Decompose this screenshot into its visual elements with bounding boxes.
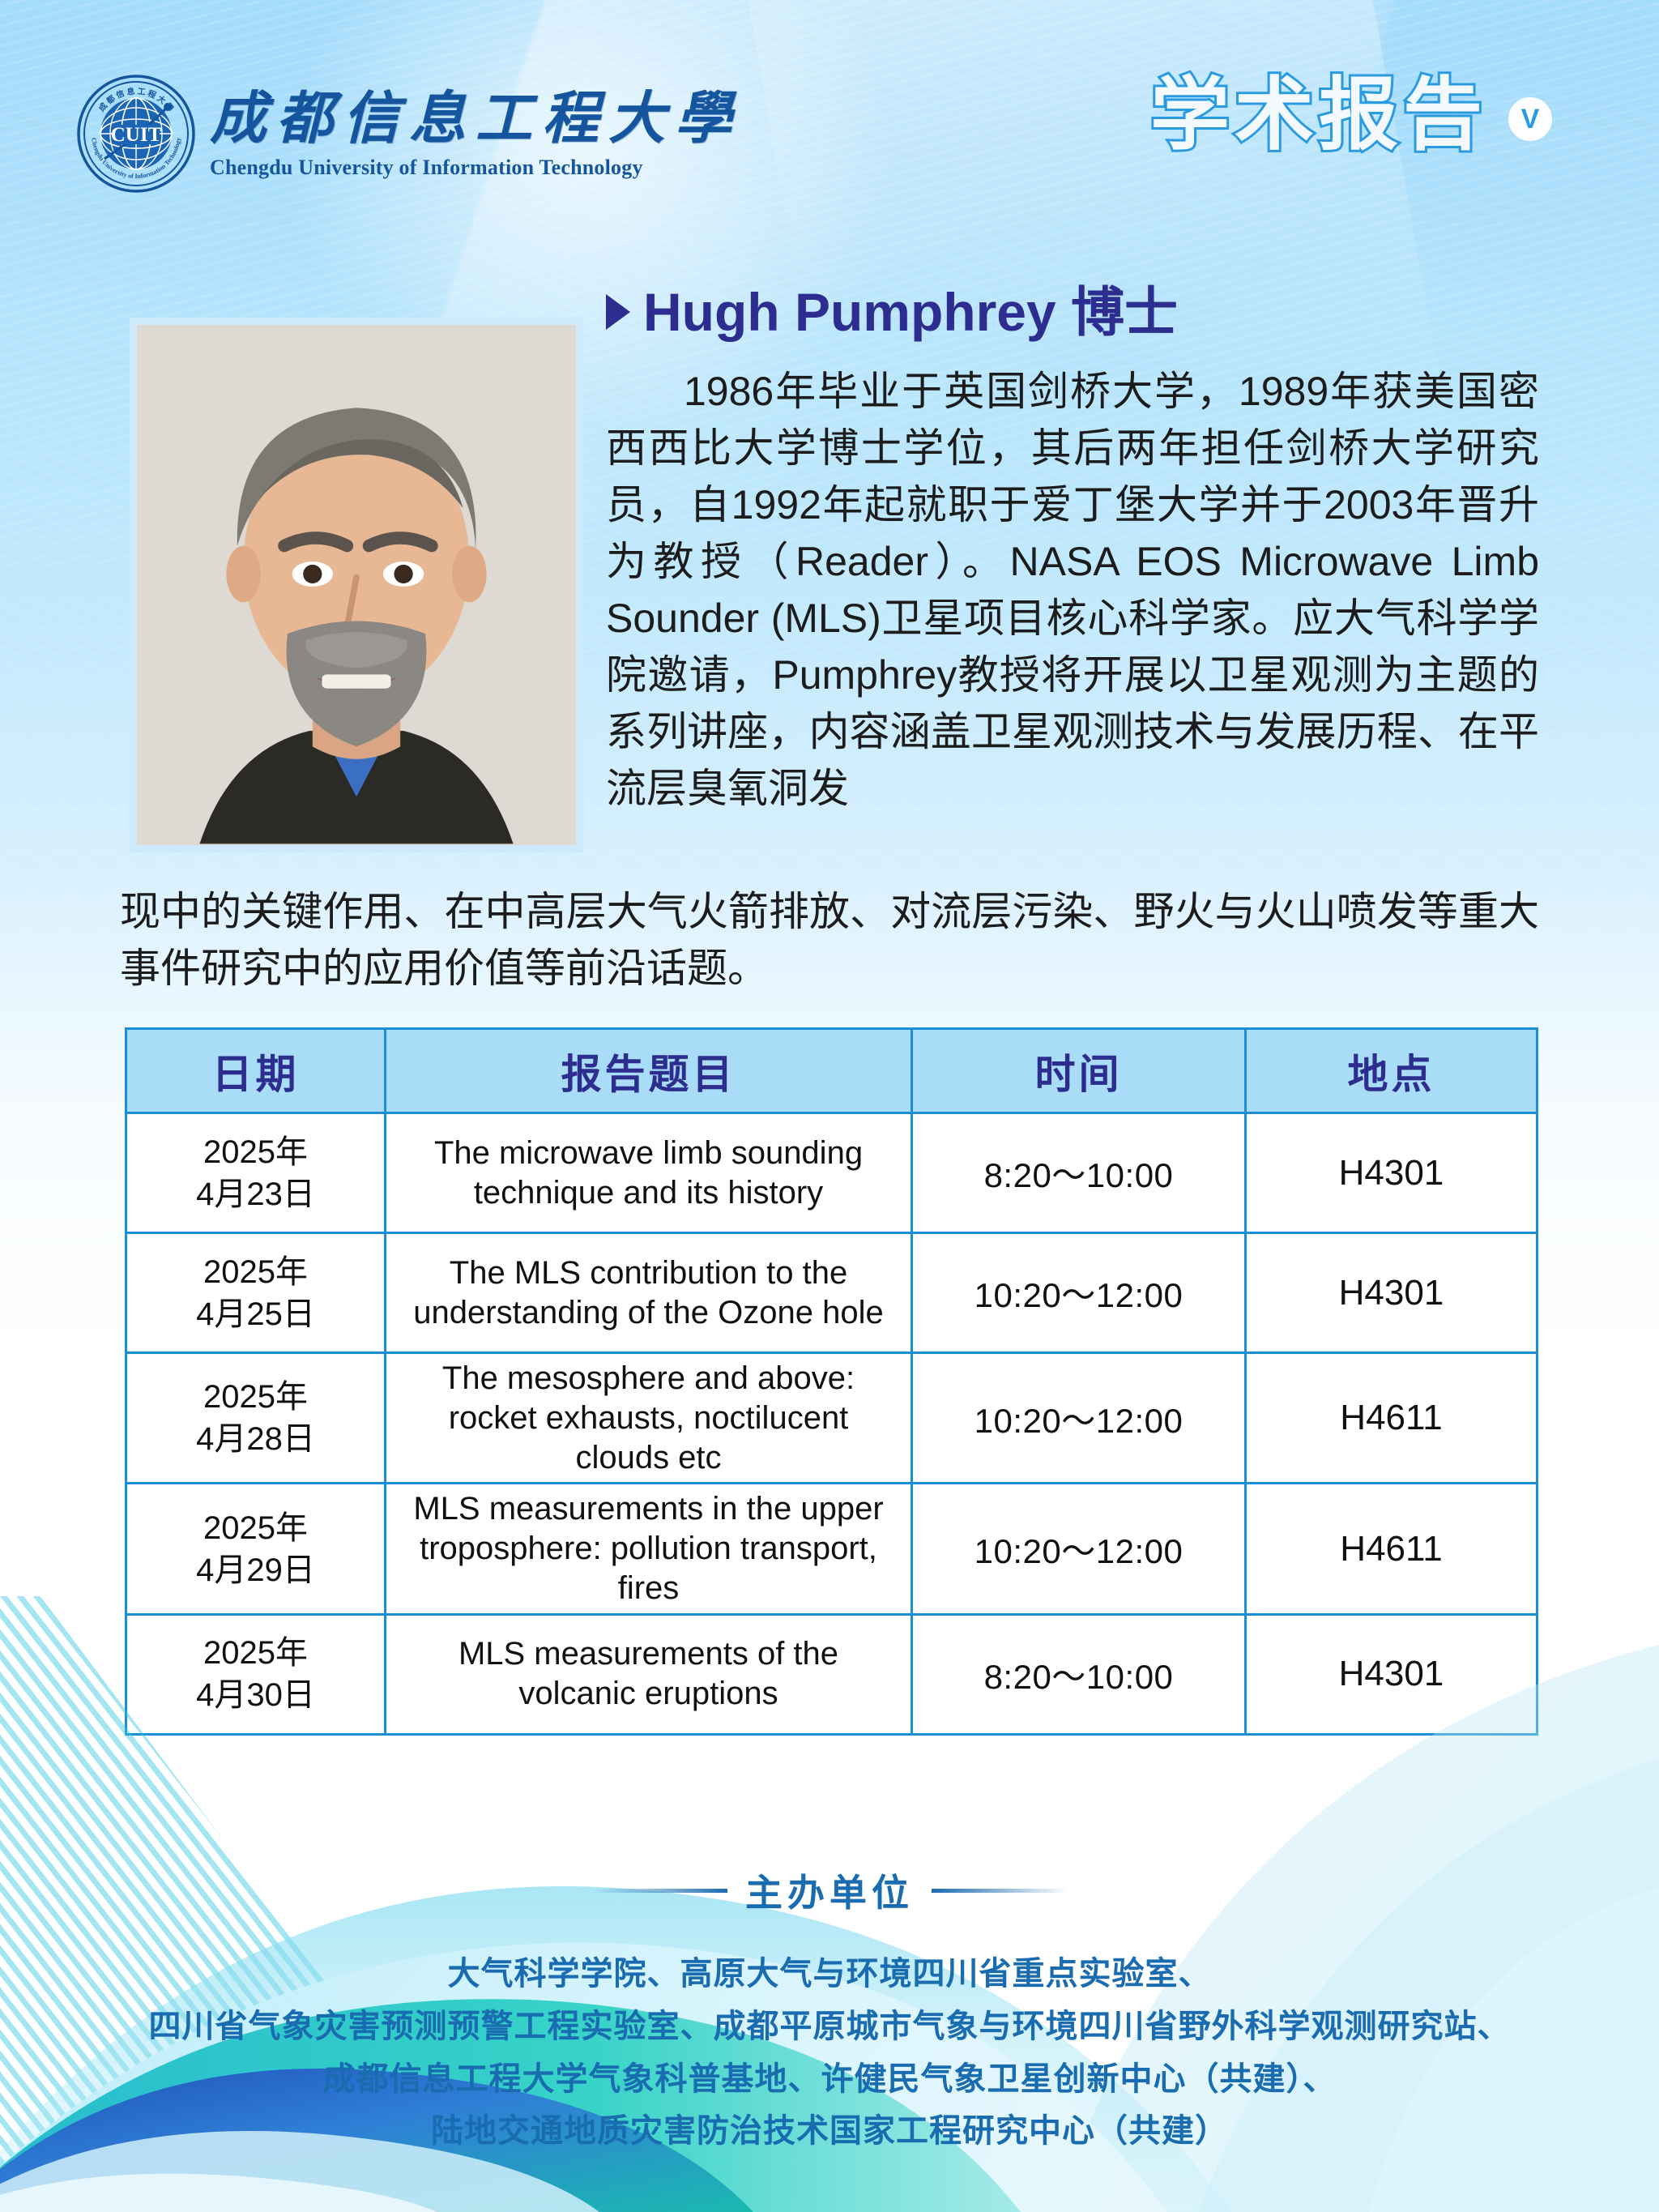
sponsor-organizations-list: 大气科学学院、高原大气与环境四川省重点实验室、 四川省气象灾害预测预警工程实验室… xyxy=(0,1948,1659,2158)
column-header-place: 地点 xyxy=(1246,1029,1537,1113)
column-header-time: 时间 xyxy=(912,1029,1246,1113)
cell-date: 2025年 4月25日 xyxy=(126,1233,386,1353)
sponsor-heading: 主办单位 xyxy=(591,1864,1068,1917)
badge-title-text: 学术报告 xyxy=(1150,75,1487,154)
cell-place: H4301 xyxy=(1246,1233,1537,1353)
cell-date-year: 2025年 xyxy=(203,1134,308,1170)
cell-date: 2025年 4月23日 xyxy=(126,1113,386,1233)
sponsor-line: 成都信息工程大学气象科普基地、许健民气象卫星创新中心（共建）、 xyxy=(0,2053,1659,2106)
cell-date-year: 2025年 xyxy=(203,1510,308,1546)
svg-text:CUIT: CUIT xyxy=(111,124,162,146)
cell-time: 10:20～12:00 xyxy=(912,1353,1246,1484)
cell-date-year: 2025年 xyxy=(203,1379,308,1415)
cell-title: The microwave limb sounding technique an… xyxy=(386,1113,912,1233)
cell-time: 8:20～10:00 xyxy=(912,1113,1246,1233)
sponsor-line: 大气科学学院、高原大气与环境四川省重点实验室、 xyxy=(0,1948,1659,2001)
academic-report-badge: 学术报告 V xyxy=(1150,75,1552,154)
cell-date-day: 4月29日 xyxy=(196,1552,315,1588)
sponsor-line: 陆地交通地质灾害防治技术国家工程研究中心（共建） xyxy=(0,2105,1659,2158)
university-name-cn: 成都信息工程大學 xyxy=(210,92,741,148)
cell-time: 10:20～12:00 xyxy=(912,1233,1246,1353)
cell-date-day: 4月28日 xyxy=(196,1421,315,1457)
cell-place: H4611 xyxy=(1246,1484,1537,1614)
column-header-date: 日期 xyxy=(126,1029,386,1113)
cell-date: 2025年 4月29日 xyxy=(126,1484,386,1614)
cell-title: The MLS contribution to the understandin… xyxy=(386,1233,912,1353)
cuit-seal-icon: CUIT 成 都 信 息 工 程 大 學 Chengdu University … xyxy=(77,75,195,193)
sponsor-section: 主办单位 大气科学学院、高原大气与环境四川省重点实验室、 四川省气象灾害预测预警… xyxy=(0,1864,1659,2158)
university-name-en: Chengdu University of Information Techno… xyxy=(210,156,741,180)
rule-left-decoration xyxy=(591,1889,727,1893)
cell-date: 2025年 4月28日 xyxy=(126,1353,386,1484)
cell-date-day: 4月23日 xyxy=(196,1176,315,1212)
speaker-name-text: Hugh Pumphrey 博士 xyxy=(643,285,1178,339)
v-mark-icon: V xyxy=(1508,97,1552,141)
column-header-title: 报告题目 xyxy=(386,1029,912,1113)
table-row: 2025年 4月25日 The MLS contribution to the … xyxy=(126,1233,1537,1353)
rule-right-decoration xyxy=(932,1889,1068,1893)
speaker-bio-paragraph-bottom: 现中的关键作用、在中高层大气火箭排放、对流层污染、野火与火山喷发等重大事件研究中… xyxy=(120,883,1539,997)
speaker-bio-paragraph-top: 1986年毕业于英国剑桥大学，1989年获美国密西西比大学博士学位，其后两年担任… xyxy=(606,363,1539,817)
table-row: 2025年 4月29日 MLS measurements in the uppe… xyxy=(126,1484,1537,1614)
university-name-block: 成都信息工程大學 Chengdu University of Informati… xyxy=(210,88,741,180)
cell-date-year: 2025年 xyxy=(203,1254,308,1290)
cell-title: The mesosphere and above: rocket exhaust… xyxy=(386,1353,912,1484)
triangle-bullet-icon xyxy=(606,294,630,330)
university-logo-block: CUIT 成 都 信 息 工 程 大 學 Chengdu University … xyxy=(77,75,741,193)
cell-time: 10:20～12:00 xyxy=(912,1484,1246,1614)
table-row: 2025年 4月28日 The mesosphere and above: ro… xyxy=(126,1353,1537,1484)
table-header-row: 日期 报告题目 时间 地点 xyxy=(126,1029,1537,1113)
speaker-portrait-photo xyxy=(130,318,583,852)
cell-title: MLS measurements in the upper tropospher… xyxy=(386,1484,912,1614)
cell-date-day: 4月25日 xyxy=(196,1296,315,1332)
cell-place: H4301 xyxy=(1246,1113,1537,1233)
cell-place: H4611 xyxy=(1246,1353,1537,1484)
sponsor-heading-text: 主办单位 xyxy=(745,1864,914,1917)
speaker-name-heading: Hugh Pumphrey 博士 xyxy=(606,285,1178,339)
sponsor-line: 四川省气象灾害预测预警工程实验室、成都平原城市气象与环境四川省野外科学观测研究站… xyxy=(0,2001,1659,2053)
table-row: 2025年 4月23日 The microwave limb sounding … xyxy=(126,1113,1537,1233)
poster-header: CUIT 成 都 信 息 工 程 大 學 Chengdu University … xyxy=(0,0,1659,243)
